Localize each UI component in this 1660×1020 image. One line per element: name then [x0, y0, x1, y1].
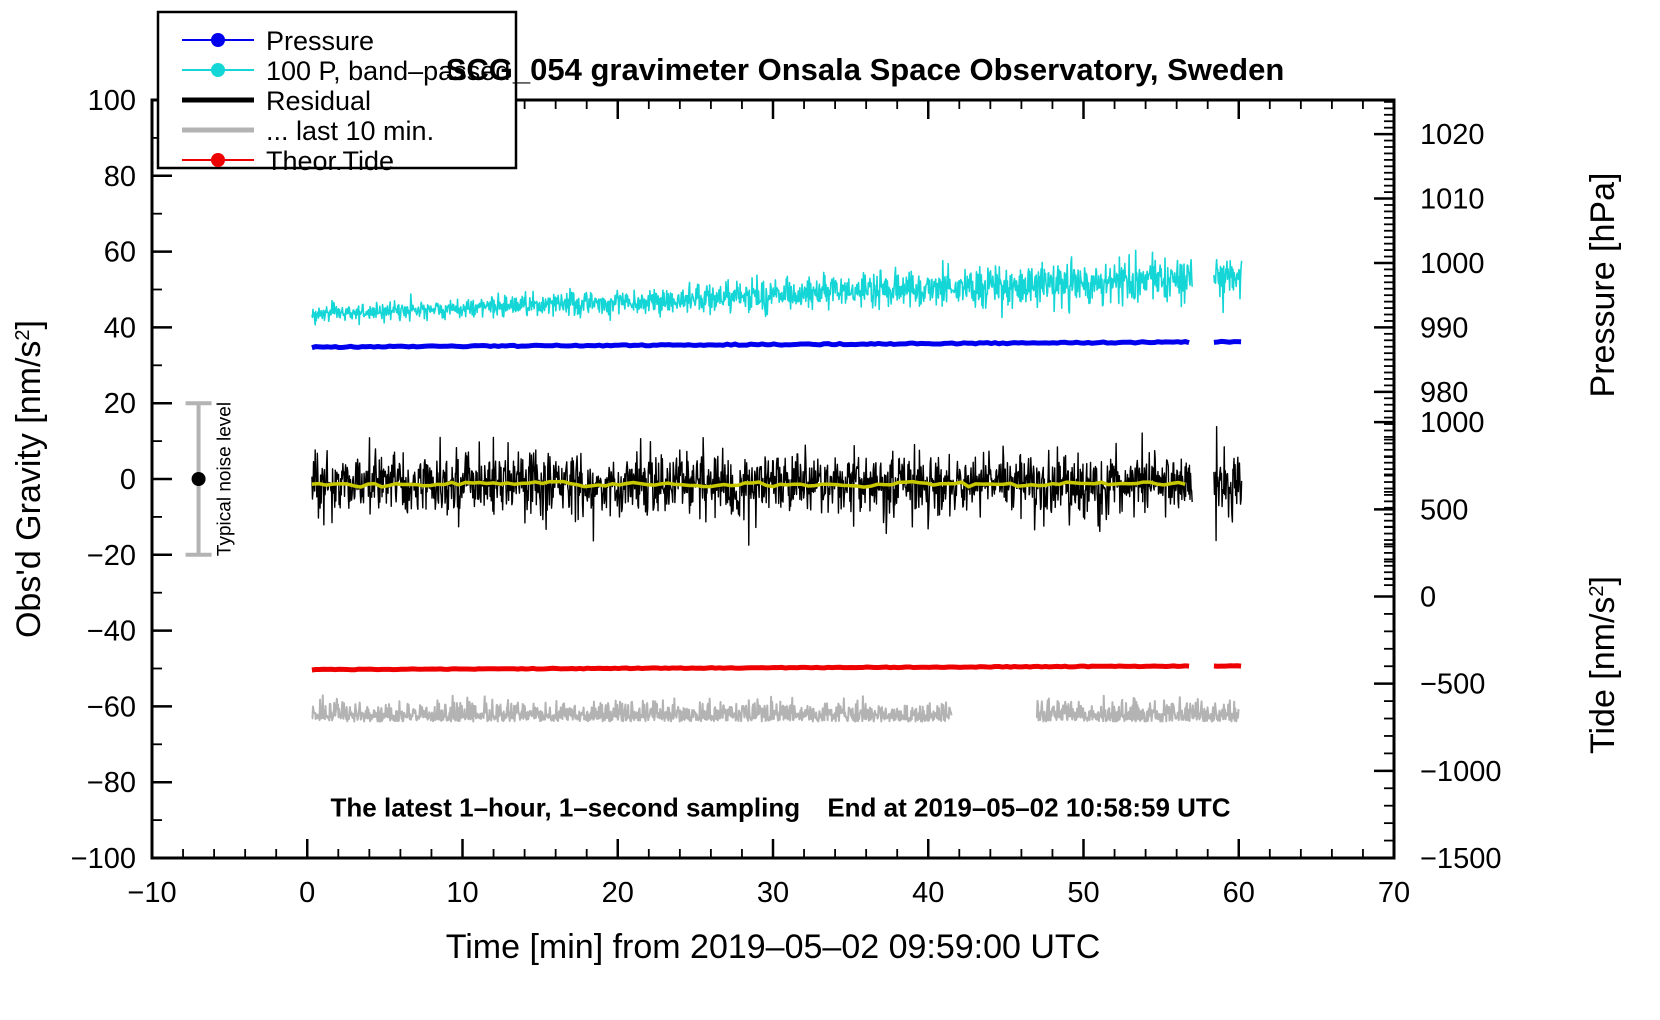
pressure-tick-label: 1010 [1420, 184, 1485, 216]
y-tick-label: 100 [88, 85, 136, 117]
legend-item-label: Pressure [266, 26, 374, 56]
tide-tick-label: −500 [1420, 669, 1485, 701]
pressure-tick-label: 1000 [1420, 248, 1485, 280]
x-tick-label: 10 [446, 877, 478, 909]
legend-swatch-marker [211, 33, 225, 47]
tide-tick-label: 500 [1420, 494, 1468, 526]
y-tick-label: 40 [104, 312, 136, 344]
end-time-note: End at 2019–05–02 10:58:59 UTC [827, 792, 1230, 822]
tide-tick-label: −1000 [1420, 756, 1501, 788]
x-tick-label: 0 [299, 877, 315, 909]
tide-tick-label: 1000 [1420, 407, 1485, 439]
tide-tick-label: 0 [1420, 581, 1436, 613]
noise-level-label: Typical noise level [215, 402, 236, 556]
tide-tick-label: −1500 [1420, 843, 1501, 875]
legend-item-label: Theor.Tide [266, 146, 394, 176]
series-line-segment-2 [1214, 341, 1241, 342]
y-tick-label: 80 [104, 161, 136, 193]
x-axis-title: Time [min] from 2019–05–02 09:59:00 UTC [446, 928, 1101, 966]
x-tick-label: 40 [912, 877, 944, 909]
chart-title: SCG_054 gravimeter Onsala Space Observat… [446, 52, 1285, 87]
x-tick-label: −10 [127, 877, 176, 909]
x-tick-label: 50 [1067, 877, 1099, 909]
y-axis-title-gravity: Obs'd Gravity [nm/s2] [10, 320, 48, 638]
y-tick-label: 20 [104, 388, 136, 420]
plot-annotations: The latest 1–hour, 1–second samplingEnd … [331, 792, 1231, 822]
chart-page: −10010203040506070 −100−80−60−40−2002040… [0, 0, 1660, 1020]
y-axis-title-pressure: Pressure [hPa] [1584, 173, 1622, 398]
legend-item-label: ... last 10 min. [266, 116, 434, 146]
x-tick-label: 60 [1223, 877, 1255, 909]
gravimeter-chart: −10010203040506070 −100−80−60−40−2002040… [0, 0, 1660, 1020]
y-tick-label: 60 [104, 237, 136, 269]
chart-legend[interactable]: Pressure100 P, band–passedResidual... la… [158, 12, 516, 176]
y-tick-label: 0 [120, 464, 136, 496]
pressure-tick-label: 1020 [1420, 119, 1485, 151]
pressure-tick-label: 990 [1420, 312, 1468, 344]
legend-swatch-marker [211, 63, 225, 77]
y-tick-label: −60 [87, 691, 136, 723]
y-tick-label: −20 [87, 540, 136, 572]
x-tick-label: 70 [1378, 877, 1410, 909]
y-tick-label: −40 [87, 616, 136, 648]
pressure-tick-label: 980 [1420, 377, 1468, 409]
legend-item-label: Residual [266, 86, 371, 116]
y-tick-label: −100 [71, 843, 136, 875]
x-tick-label: 30 [757, 877, 789, 909]
y-axis-title-tide: Tide [nm/s2] [1584, 576, 1622, 754]
latest-hour-note: The latest 1–hour, 1–second sampling [331, 792, 801, 822]
x-tick-label: 20 [602, 877, 634, 909]
legend-swatch-marker [211, 153, 225, 167]
y-tick-label: −80 [87, 767, 136, 799]
noise-center-dot [192, 472, 206, 486]
